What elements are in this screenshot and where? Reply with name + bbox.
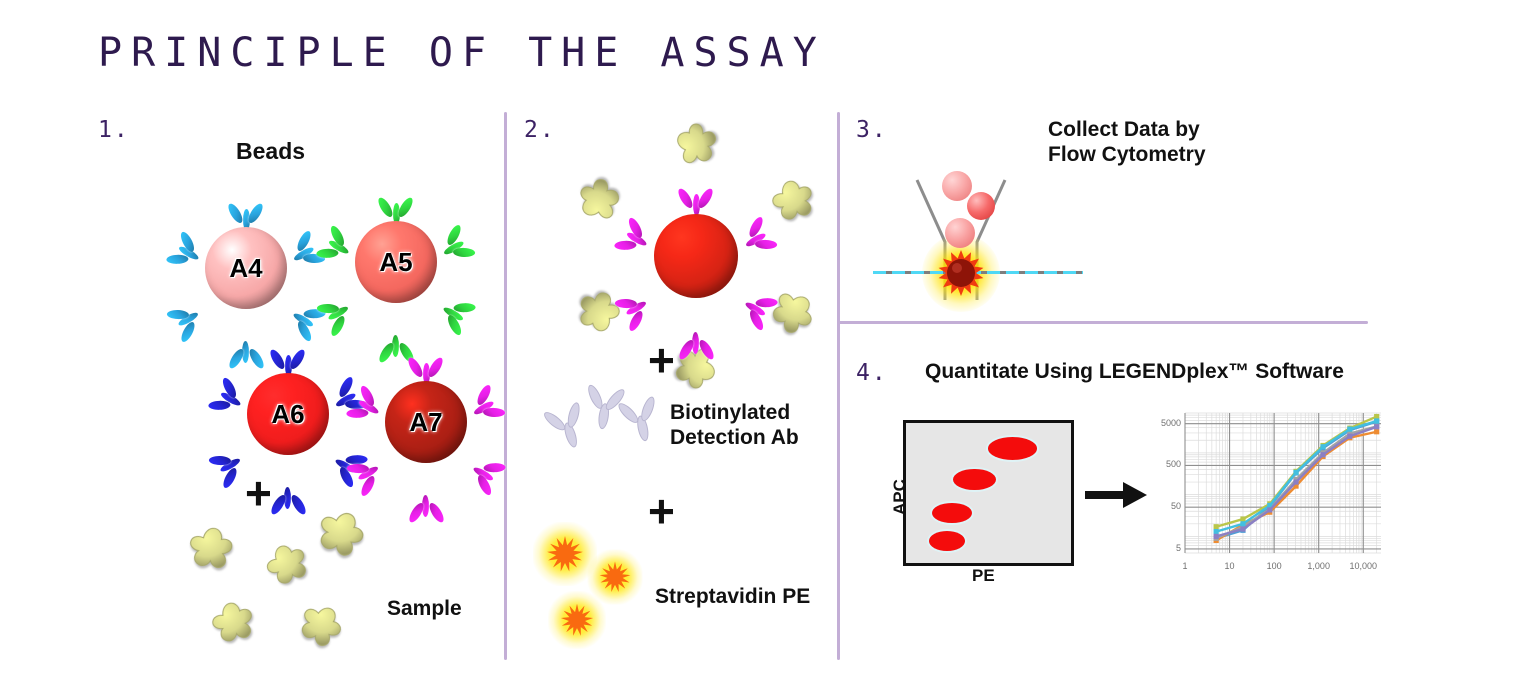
analyte-blob-icon — [183, 521, 239, 574]
analyte-blob-icon — [290, 594, 352, 655]
analyte-blob-icon — [207, 598, 258, 646]
antibody-icon — [270, 341, 306, 377]
detection-ab-label-line2: Detection Ab — [670, 426, 799, 451]
antibody-icon — [435, 219, 484, 268]
bead- — [654, 214, 738, 298]
analyte-blob-icon — [259, 537, 315, 590]
plus-sign-detection: + — [648, 337, 675, 383]
analyte-blob-icon — [767, 175, 820, 224]
curve-y-tick: 50 — [1149, 501, 1181, 511]
flow-cytometry-heading-line1: Collect Data by — [1048, 118, 1206, 143]
antibody-icon — [465, 452, 514, 501]
flow-cytometer-illustration — [905, 168, 1085, 303]
bead-a6: A6 — [247, 373, 329, 455]
antibody-icon — [465, 379, 514, 428]
interrogated-bead-icon — [934, 246, 988, 300]
bead-label: A5 — [379, 247, 412, 278]
antibody-icon — [270, 487, 306, 523]
antibody-icon — [408, 495, 444, 531]
scatter-populations — [906, 423, 1071, 563]
antibody-icon — [408, 349, 444, 385]
sample-label: Sample — [387, 597, 462, 622]
beads-heading: Beads — [236, 138, 305, 165]
streptavidin-pe-label: Streptavidin PE — [655, 585, 810, 610]
plus-sign-sample: + — [245, 470, 272, 516]
antibody-icon — [200, 444, 249, 493]
bead-label: A7 — [409, 407, 442, 438]
standard-curve-chart: 55050050001101001,00010,000 — [1143, 405, 1388, 590]
antibody-icon — [228, 341, 264, 377]
scatter-population-3 — [953, 469, 996, 490]
flow-bead-1 — [942, 171, 972, 201]
curve-x-tick: 10,000 — [1341, 561, 1385, 571]
scatter-population-1 — [929, 531, 966, 551]
bead-label: A4 — [229, 253, 262, 284]
divider-panel2-panel3 — [837, 112, 840, 660]
step-1-number: 1. — [98, 117, 130, 143]
bead-a5: A5 — [355, 221, 437, 303]
antibody-icon — [378, 189, 414, 225]
step-4-number: 4. — [856, 360, 888, 386]
bead-a4: A4 — [205, 227, 287, 309]
scatter-population-2 — [932, 503, 972, 523]
bead-assembly — [596, 156, 796, 356]
quantitate-heading: Quantitate Using LEGENDplex™ Software — [925, 360, 1344, 385]
curve-x-tick: 1 — [1163, 561, 1207, 571]
streptavidin-pe-icon — [548, 591, 606, 649]
biotinylated-detection-antibody-icon — [614, 394, 664, 446]
curve-y-tick: 5000 — [1149, 418, 1181, 428]
antibody-icon — [678, 180, 714, 216]
assay-diagram-canvas: PRINCIPLE OF THE ASSAY 1. 2. 3. 4. Beads… — [0, 0, 1536, 675]
scatter-y-axis-label: APC — [890, 479, 910, 515]
flow-bead-3 — [945, 218, 975, 248]
antibody-icon — [200, 371, 249, 420]
flow-cytometry-heading: Collect Data by Flow Cytometry — [1048, 118, 1206, 168]
flow-bead-2 — [967, 192, 995, 220]
bead-a7: A7 — [385, 381, 467, 463]
antibody-icon — [678, 332, 714, 368]
antibody-icon — [158, 225, 207, 274]
curve-x-tick: 1,000 — [1297, 561, 1341, 571]
step-3-number: 3. — [856, 117, 888, 143]
antibody-icon — [606, 211, 655, 260]
scatter-plot — [903, 420, 1074, 566]
plus-sign-streptavidin: + — [648, 488, 675, 534]
bead-assembly: A7 — [330, 326, 522, 518]
curve-x-tick: 100 — [1252, 561, 1296, 571]
page-title: PRINCIPLE OF THE ASSAY — [98, 30, 826, 76]
curve-y-tick: 500 — [1149, 459, 1181, 469]
curve-y-tick: 5 — [1149, 543, 1181, 553]
divider-panel3-panel4 — [837, 321, 1368, 324]
arrow-icon — [1085, 478, 1149, 512]
bead-label: A6 — [271, 399, 304, 430]
curve-x-tick: 10 — [1208, 561, 1252, 571]
antibody-icon — [228, 195, 264, 231]
detection-ab-label: Biotinylated Detection Ab — [670, 401, 799, 451]
scatter-x-axis-label: PE — [972, 566, 995, 586]
flow-cytometry-heading-line2: Flow Cytometry — [1048, 143, 1206, 168]
step-2-number: 2. — [524, 117, 556, 143]
scatter-population-4 — [988, 437, 1037, 460]
detection-ab-label-line1: Biotinylated — [670, 401, 799, 426]
